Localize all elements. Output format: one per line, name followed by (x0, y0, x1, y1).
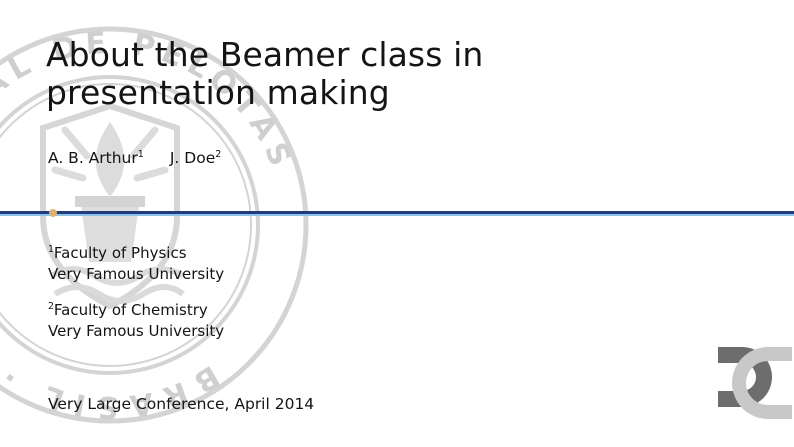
affiliation-1: 1Faculty of Physics Very Famous Universi… (48, 243, 224, 285)
affiliation-list: 1Faculty of Physics Very Famous Universi… (48, 243, 224, 342)
divider-highlight (0, 214, 794, 216)
dc-logo (702, 339, 794, 423)
affiliation-2-institution: Very Famous University (48, 321, 224, 342)
author-1-name: A. B. Arthur (48, 149, 138, 167)
presentation-title-slide: AL DE PELOTAS BRASIL · (0, 0, 794, 447)
author-2-affiliation-mark: 2 (215, 149, 221, 160)
affiliation-2: 2Faculty of Chemistry Very Famous Univer… (48, 300, 224, 342)
title-divider-rule (0, 211, 794, 218)
slide-title-line-2: presentation making (46, 74, 746, 112)
conference-date: Very Large Conference, April 2014 (48, 394, 314, 414)
slide-title: About the Beamer class in presentation m… (46, 36, 746, 112)
author-1: A. B. Arthur1 (48, 149, 144, 167)
affiliation-1-institution: Very Famous University (48, 264, 224, 285)
affiliation-2-department-line: 2Faculty of Chemistry (48, 300, 224, 321)
author-2: J. Doe2 (170, 149, 222, 167)
affiliation-1-department: Faculty of Physics (54, 244, 187, 262)
affiliation-1-department-line: 1Faculty of Physics (48, 243, 224, 264)
author-2-name: J. Doe (170, 149, 215, 167)
slide-title-line-1: About the Beamer class in (46, 36, 746, 74)
divider-dot-marker (49, 209, 57, 217)
affiliation-2-department: Faculty of Chemistry (54, 301, 208, 319)
author-1-affiliation-mark: 1 (138, 149, 144, 160)
author-list: A. B. Arthur1J. Doe2 (48, 148, 221, 168)
